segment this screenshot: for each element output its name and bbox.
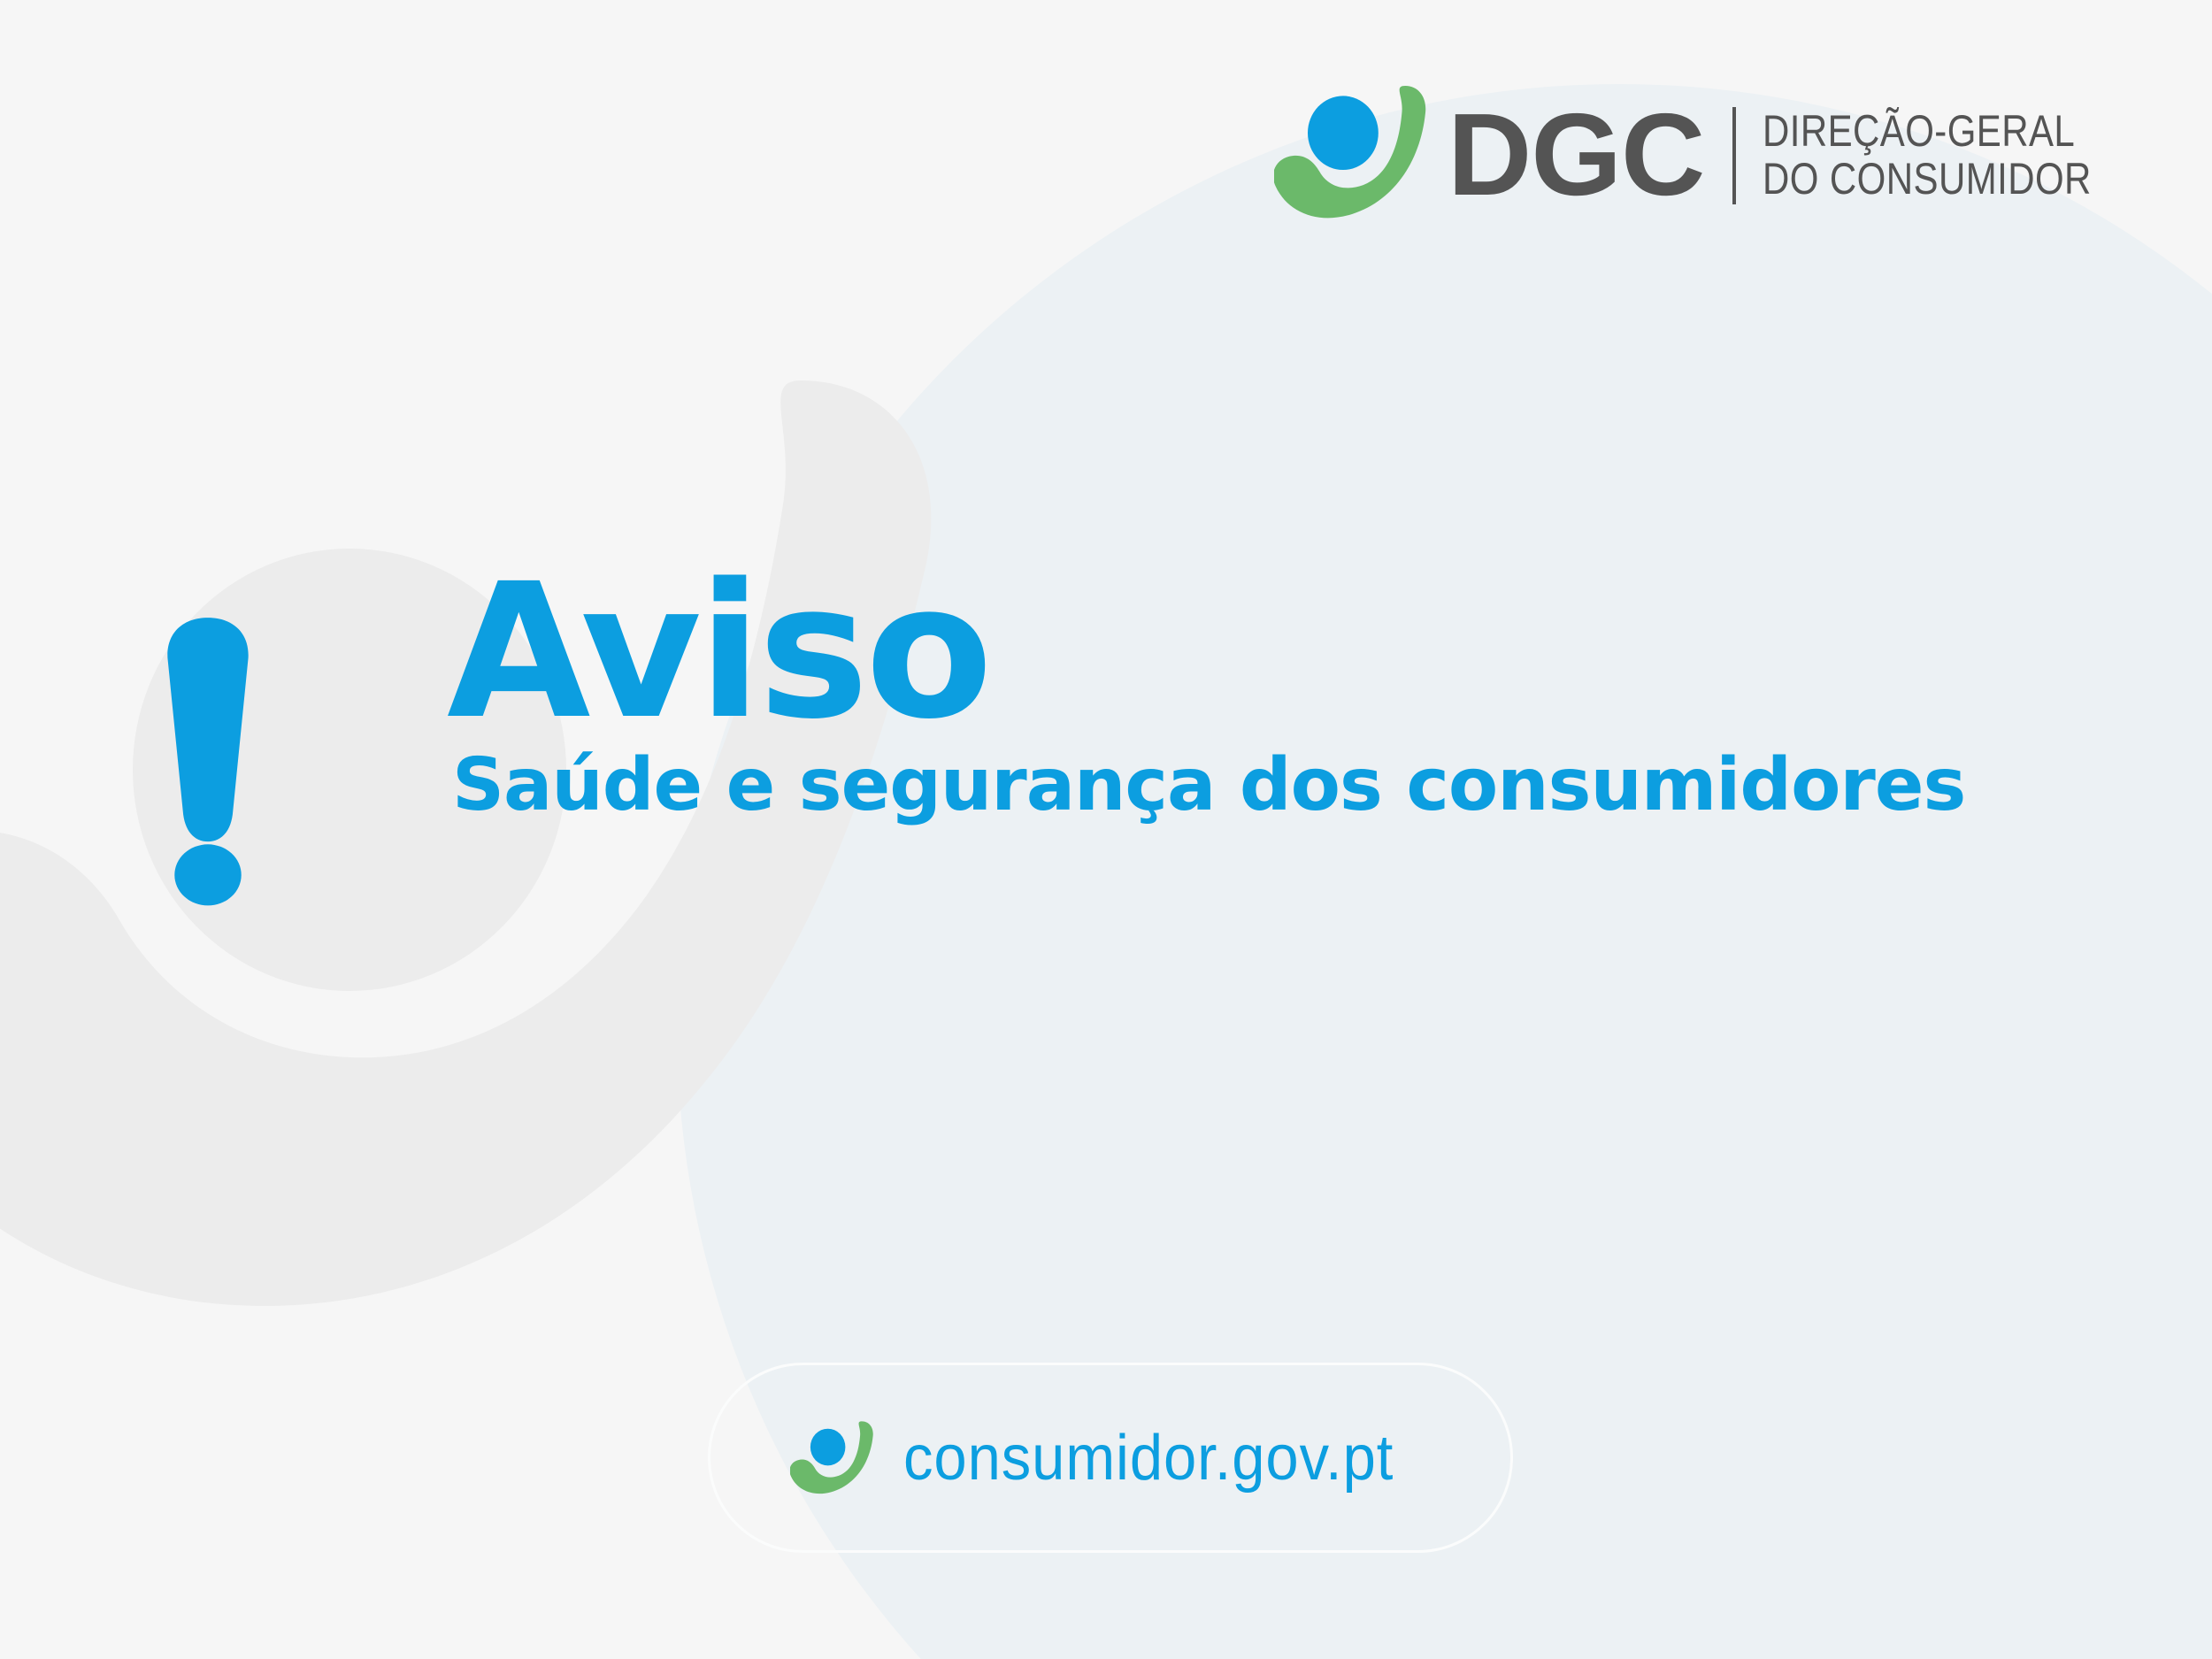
dgc-logo-mark-small-icon (790, 1412, 882, 1504)
brand-subtitle-line-1: DIREÇÃO-GERAL (1763, 107, 2092, 155)
headline-text-group: Aviso Saúde e segurança dos consumidores (447, 566, 1965, 822)
exclamation-stem (167, 618, 248, 841)
exclamation-dot (174, 844, 241, 905)
logo-dot-shape-small (810, 1428, 846, 1465)
exclamation-mark-icon (137, 615, 279, 907)
logo-dot-shape (1308, 96, 1379, 170)
poster-canvas: DGC DIREÇÃO-GERAL DO CONSUMIDOR Aviso Sa… (0, 0, 2212, 1659)
brand-subtitle-line-2: DO CONSUMIDOR (1763, 155, 2092, 203)
website-url-text[interactable]: consumidor.gov.pt (903, 1422, 1394, 1494)
page-subtitle: Saúde e segurança dos consumidores (452, 749, 1965, 822)
page-title: Aviso (447, 566, 1965, 737)
website-url-pill[interactable]: consumidor.gov.pt (708, 1363, 1513, 1553)
dgc-brand-logo: DGC DIREÇÃO-GERAL DO CONSUMIDOR (1274, 69, 2154, 237)
brand-divider (1732, 107, 1736, 204)
brand-subtitle: DIREÇÃO-GERAL DO CONSUMIDOR (1763, 107, 2154, 203)
brand-acronym: DGC (1448, 96, 1704, 213)
headline-block: Aviso Saúde e segurança dos consumidores (314, 566, 1965, 907)
dgc-logo-mark-icon (1274, 69, 1442, 237)
